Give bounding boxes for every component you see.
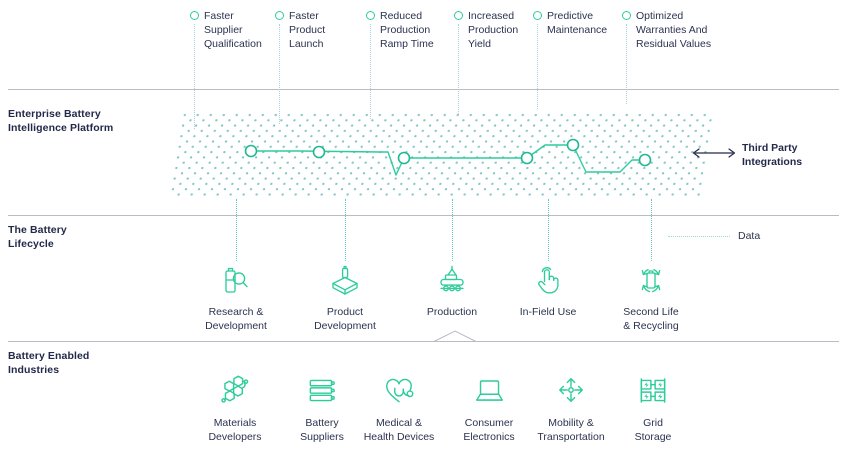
lifecycle-dropper-line (345, 199, 346, 261)
four-way-arrows-icon (553, 372, 589, 408)
third-party-integrations-label: Third Party Integrations (742, 142, 802, 169)
lifecycle-stage-label: Research & Development (205, 306, 267, 333)
kpi-callout[interactable]: Faster Supplier Qualification (190, 9, 262, 51)
kpi-ring-icon (533, 11, 542, 20)
kpi-label: Optimized Warranties And Residual Values (636, 9, 711, 51)
row-label-platform: Enterprise Battery Intelligence Platform (8, 108, 113, 135)
heart-stethoscope-icon (381, 372, 417, 408)
divider-industries (8, 341, 839, 342)
battery-intelligence-diagram: Enterprise Battery Intelligence Platform… (0, 0, 847, 449)
battery-recycle-icon (634, 263, 668, 297)
kpi-ring-icon (454, 11, 463, 20)
chart-line-path (251, 145, 645, 175)
chart-data-point[interactable] (522, 153, 533, 164)
industry-item-label: Medical & Health Devices (364, 417, 435, 444)
lifecycle-dropper-line (548, 199, 549, 261)
chart-data-point[interactable] (568, 140, 579, 151)
conveyor-icon (435, 263, 469, 297)
chart-data-point[interactable] (399, 153, 410, 164)
kpi-callout[interactable]: Reduced Production Ramp Time (366, 9, 434, 51)
legend-data-label: Data (738, 230, 760, 242)
kpi-callout[interactable]: Optimized Warranties And Residual Values (622, 9, 711, 51)
legend-data: Data (668, 230, 760, 242)
kpi-callout[interactable]: Faster Product Launch (275, 9, 325, 51)
kpi-label: Reduced Production Ramp Time (380, 9, 434, 51)
kpi-label: Faster Product Launch (289, 9, 325, 51)
legend-dotted-line-icon (668, 236, 730, 237)
lifecycle-stage-label: Production (427, 306, 477, 320)
industry-item-label: Materials Developers (208, 417, 261, 444)
kpi-callout[interactable]: Increased Production Yield (454, 9, 518, 51)
industry-item[interactable]: Grid Storage (593, 372, 713, 444)
battery-stack-icon (304, 372, 340, 408)
lifecycle-stage-label: In-Field Use (520, 306, 577, 320)
lifecycle-stage[interactable]: Research & Development (176, 263, 296, 333)
double-arrow-icon (691, 146, 737, 160)
lifecycle-dropper-line (236, 199, 237, 261)
kpi-ring-icon (622, 11, 631, 20)
divider-lifecycle (8, 215, 839, 216)
row-label-industries: Battery Enabled Industries (8, 350, 89, 377)
chart-data-point[interactable] (246, 146, 257, 157)
lifecycle-dropper-line (651, 199, 652, 261)
lifecycle-dropper-line (452, 199, 453, 261)
industry-item-label: Consumer Electronics (463, 417, 514, 444)
kpi-callout[interactable]: Predictive Maintenance (533, 9, 607, 37)
molecule-icon (217, 372, 253, 408)
caret-up-icon (434, 330, 476, 342)
lifecycle-stage-label: Second Life & Recycling (623, 306, 678, 333)
product-design-icon (328, 263, 362, 297)
hand-tap-icon (531, 263, 565, 297)
chart-data-point[interactable] (314, 147, 325, 158)
divider-platform (8, 89, 839, 90)
kpi-ring-icon (190, 11, 199, 20)
kpi-label: Predictive Maintenance (547, 9, 607, 37)
row-label-lifecycle: The Battery Lifecycle (8, 224, 67, 251)
kpi-ring-icon (366, 11, 375, 20)
laptop-icon (471, 372, 507, 408)
battery-magnifier-icon (219, 263, 253, 297)
lifecycle-stage-label: Product Development (314, 306, 376, 333)
grid-storage-icon (635, 372, 671, 408)
industry-item-label: Battery Suppliers (300, 417, 344, 444)
lifecycle-stage[interactable]: Second Life & Recycling (591, 263, 711, 333)
lifecycle-stage[interactable]: In-Field Use (488, 263, 608, 320)
platform-data-line-chart (170, 113, 715, 198)
kpi-ring-icon (275, 11, 284, 20)
industry-item-label: Grid Storage (635, 417, 672, 444)
chart-data-point[interactable] (640, 155, 651, 166)
chart-marker-group (246, 140, 651, 166)
lifecycle-stage[interactable]: Product Development (285, 263, 405, 333)
kpi-label: Faster Supplier Qualification (204, 9, 262, 51)
kpi-label: Increased Production Yield (468, 9, 518, 51)
